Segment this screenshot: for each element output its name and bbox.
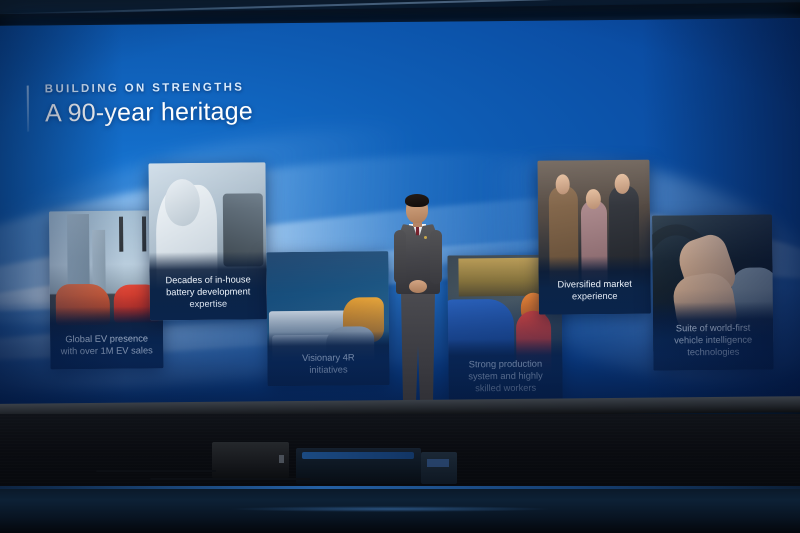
console-light-bar bbox=[302, 452, 414, 459]
stage-cable bbox=[150, 478, 310, 480]
presenter-figure bbox=[388, 196, 448, 418]
monitor-badge-icon bbox=[279, 455, 284, 463]
presenter-arm-right bbox=[430, 230, 442, 284]
presenter-hair bbox=[405, 194, 429, 207]
lapel-pin-icon bbox=[424, 236, 427, 239]
equipment-indicator-icon bbox=[427, 459, 449, 467]
stage-control-console bbox=[296, 448, 421, 484]
apron-glow bbox=[230, 506, 550, 512]
presenter-legs bbox=[401, 292, 435, 404]
stage-monitor-speaker bbox=[212, 442, 289, 478]
stage-cable bbox=[96, 470, 216, 472]
presenter-hands bbox=[409, 280, 427, 293]
apron-edge-light bbox=[0, 486, 800, 489]
presentation-photo: BUILDING ON STRENGTHS A 90-year heritage… bbox=[0, 0, 800, 533]
stage-equipment-case bbox=[421, 452, 457, 484]
stage-apron bbox=[0, 486, 800, 533]
presenter-arm-left bbox=[394, 230, 406, 284]
